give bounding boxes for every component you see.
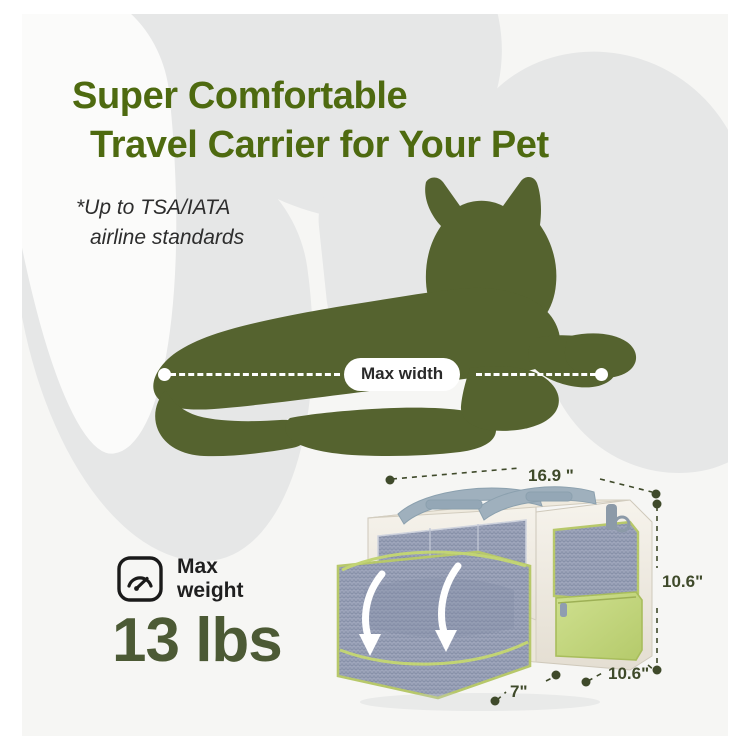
dimension-line-bottom-right-a — [588, 672, 604, 681]
max-weight-value: 13 lbs — [112, 610, 376, 672]
max-weight-header: Max weight — [116, 555, 376, 604]
infographic-page: Super Comfortable Travel Carrier for You… — [0, 0, 750, 750]
dimension-label-depth: 10.6" — [608, 664, 649, 684]
dimension-label-extension: 7" — [510, 682, 528, 702]
dimension-label-width: 16.9 " — [528, 466, 574, 486]
max-weight-block: Max weight 13 lbs — [116, 555, 376, 672]
dimension-label-height: 10.6" — [662, 572, 703, 592]
dimension-line-top-left — [392, 468, 520, 479]
gauge-icon — [116, 555, 164, 603]
max-weight-label: Max weight — [177, 555, 244, 604]
max-weight-label-line-2: weight — [177, 579, 244, 602]
dimension-line-top-right — [600, 479, 652, 492]
max-weight-label-line-1: Max — [177, 555, 218, 578]
